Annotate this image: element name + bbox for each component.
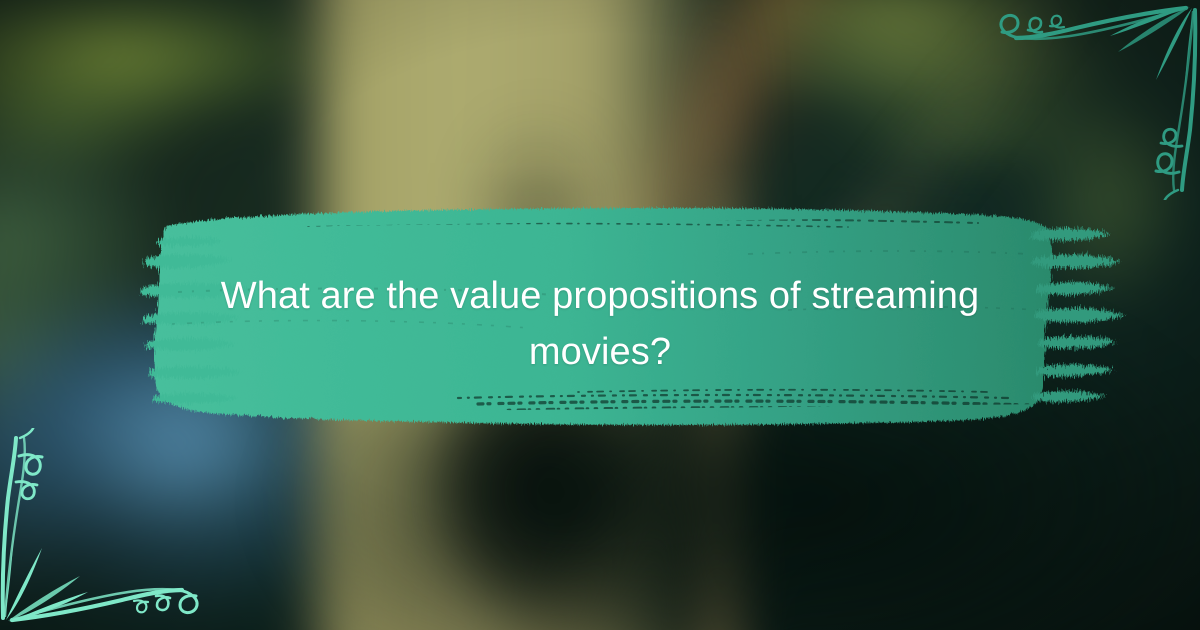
- page-title: What are the value propositions of strea…: [170, 268, 1030, 380]
- question-card-canvas: What are the value propositions of strea…: [0, 0, 1200, 630]
